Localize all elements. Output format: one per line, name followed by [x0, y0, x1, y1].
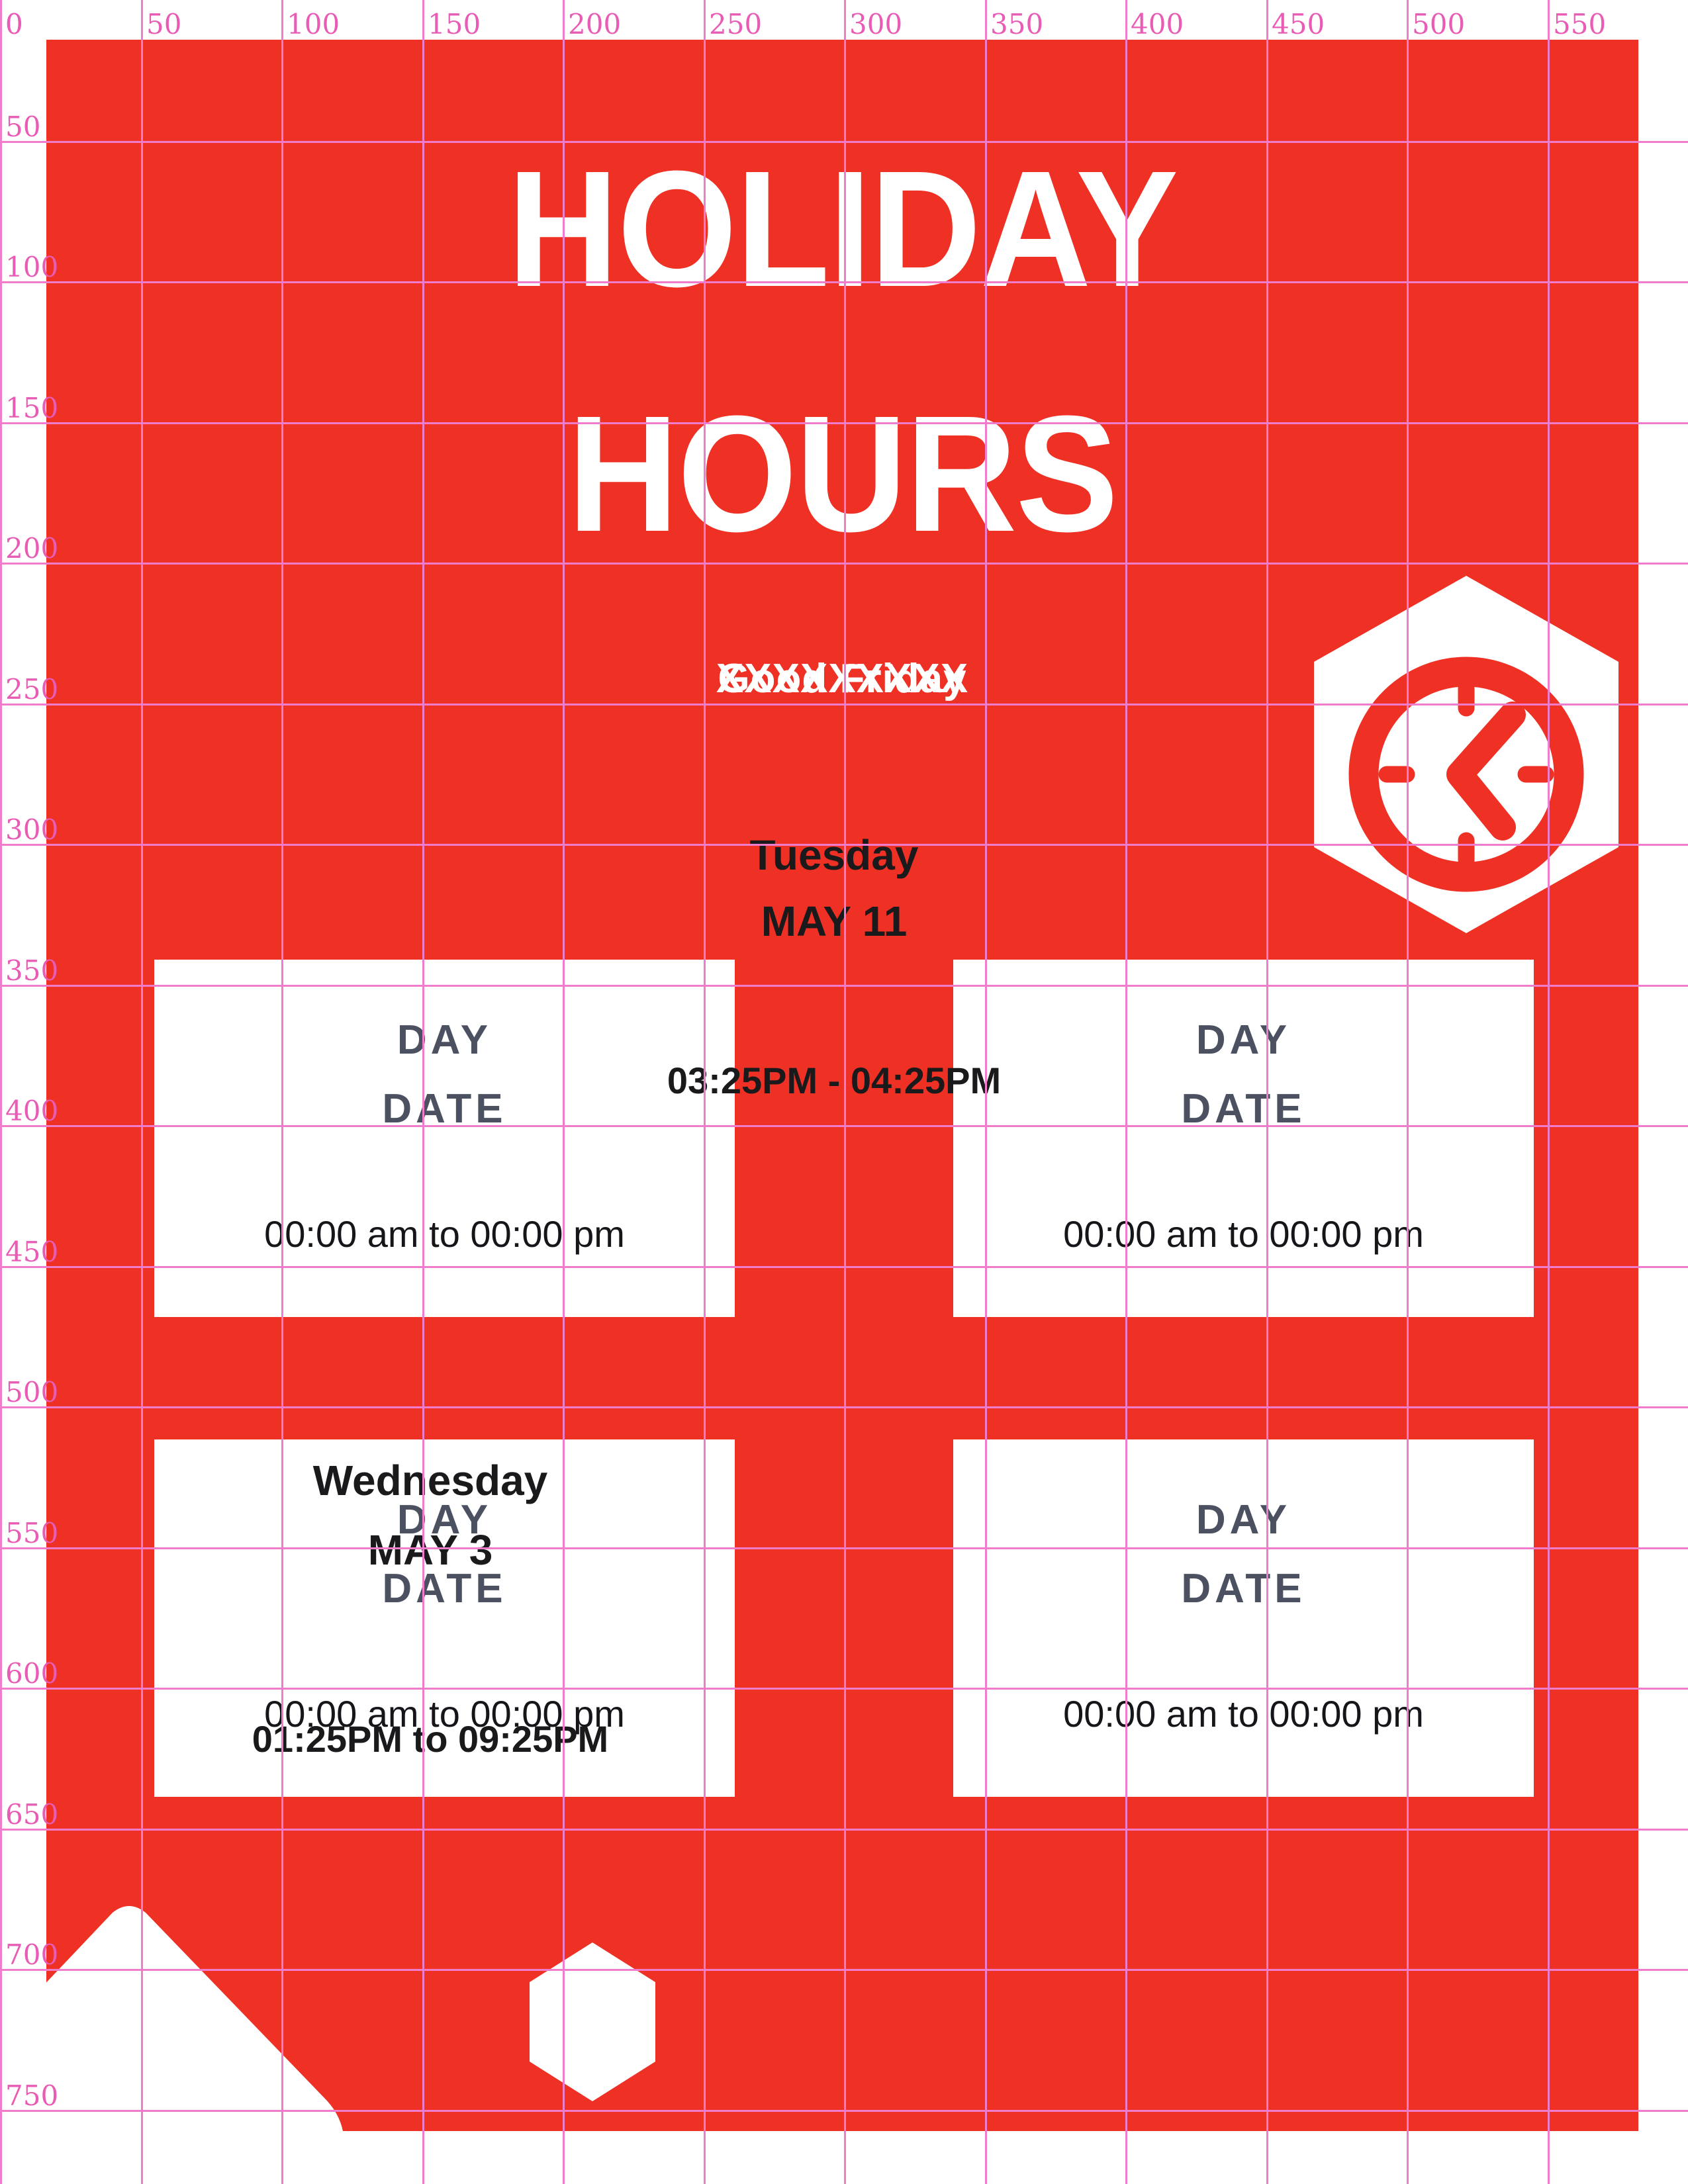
- ruler-tick-x: 350: [990, 8, 1043, 40]
- overlay-hours-value: 03:25PM - 04:25PM: [569, 1059, 1099, 1102]
- overlay-day-value: Wednesday: [199, 1456, 662, 1505]
- card-day-label: DAY: [953, 1017, 1534, 1064]
- card-hours-label: 00:00 am to 00:00 pm: [154, 1212, 735, 1255]
- small-hexagon-shape: [523, 1939, 662, 2105]
- card-day-label: DAY: [953, 1496, 1534, 1543]
- page-title-line-2: HOURS: [102, 397, 1583, 551]
- angular-wedge-shape: [46, 1840, 496, 2131]
- ruler-tick-x: 150: [428, 8, 481, 40]
- overlay-hours-value: 01:25PM to 09:25PM: [156, 1717, 705, 1760]
- card-hours-label: 00:00 am to 00:00 pm: [953, 1212, 1534, 1255]
- overlay-date-value: MAY 3: [199, 1525, 662, 1574]
- ruler-tick-x: 100: [287, 8, 340, 40]
- ruler-tick-x: 450: [1272, 8, 1325, 40]
- overlay-day-value: Tuesday: [596, 831, 1072, 880]
- ruler-tick-origin: 0: [5, 8, 23, 40]
- ruler-tick-x: 250: [709, 8, 762, 40]
- card-day-label: DAY: [154, 1017, 735, 1064]
- hours-card[interactable]: DAY DATE 00:00 am to 00:00 pm: [953, 1439, 1534, 1797]
- ruler-tick-x: 550: [1553, 8, 1606, 40]
- ruler-tick-x: 200: [568, 8, 621, 40]
- card-date-label: DATE: [953, 1565, 1534, 1612]
- clock-in-hexagon-icon: [1301, 569, 1632, 940]
- ruler-tick-x: 50: [146, 8, 181, 40]
- card-hours-label: 00:00 am to 00:00 pm: [953, 1692, 1534, 1735]
- hours-card[interactable]: DAY DATE 00:00 am to 00:00 pm: [953, 960, 1534, 1317]
- hours-card[interactable]: DAY DATE 00:00 am to 00:00 pm: [154, 960, 735, 1317]
- page-title-line-1: HOLIDAY: [102, 152, 1583, 306]
- ruler-tick-x: 0: [5, 8, 23, 40]
- ruler-gridline-vertical: [0, 0, 2, 2184]
- ruler-tick-y: 50: [5, 111, 40, 143]
- ruler-tick-x: 400: [1131, 8, 1184, 40]
- overlay-date-value: MAY 11: [596, 897, 1072, 946]
- ruler-tick-x: 500: [1412, 8, 1465, 40]
- ruler-tick-x: 300: [849, 8, 902, 40]
